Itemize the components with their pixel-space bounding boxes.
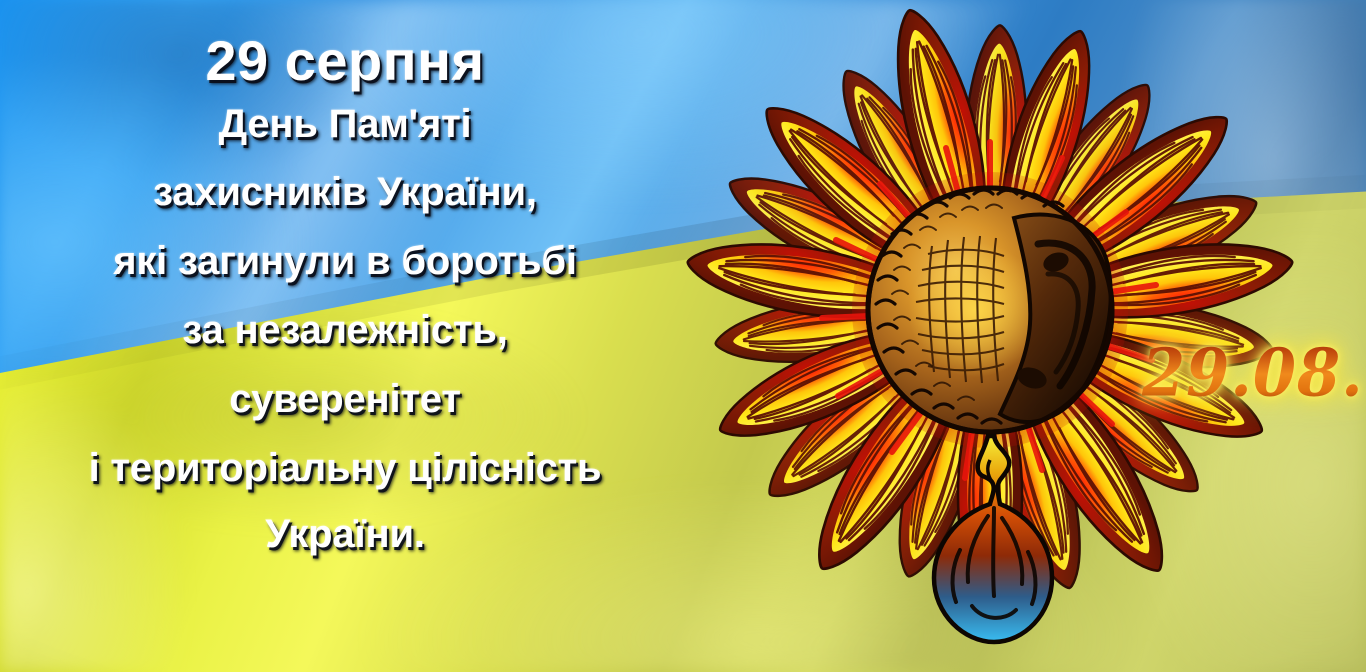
poster-line-1: День Пам'яті xyxy=(0,103,690,145)
poster-line-6: і територіальну цілісність xyxy=(0,447,690,489)
poster-line-3: які загинули в боротьбі xyxy=(0,240,690,282)
poster-line-4: за незалежність, xyxy=(0,309,690,351)
poster-line-2: захисників України, xyxy=(0,171,690,213)
date-stamp: 29.08. xyxy=(1142,334,1364,411)
poster-line-7: України. xyxy=(0,513,690,555)
poster-title: 29 серпня xyxy=(0,32,690,91)
poster-line-5: суверенітет xyxy=(0,378,690,420)
poster-text-block: 29 серпня День Пам'яті захисників Україн… xyxy=(0,0,690,672)
memorial-day-poster: 29 серпня День Пам'яті захисників Україн… xyxy=(0,0,1366,672)
sunflower-seed-disc xyxy=(868,188,1112,432)
